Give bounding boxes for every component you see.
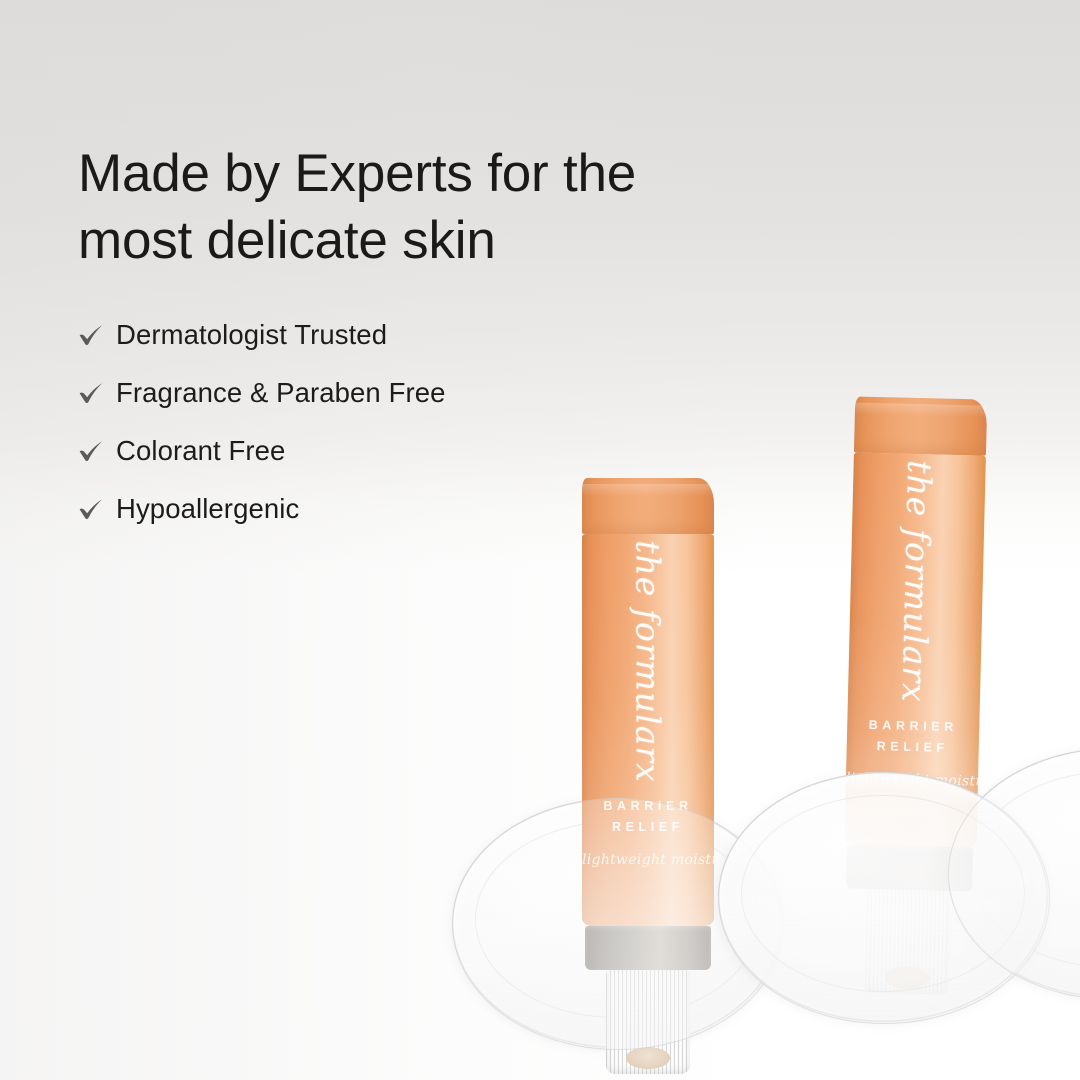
petri-dish [718,772,1048,1022]
check-icon [78,498,116,520]
headline-line-2: most delicate skin [78,207,738,275]
product-tube: the formularx BARRIER RELIEF lightweight… [582,478,714,1074]
product-name-line-2: RELIEF [612,820,684,834]
feature-label: Hypoallergenic [116,493,299,525]
product-descriptor: lightweight moisturizer [582,852,714,868]
product-marketing-image: Made by Experts for the most delicate sk… [0,0,1080,1080]
nozzle-tip [626,1047,670,1069]
feature-label: Dermatologist Trusted [116,319,387,351]
page-title: Made by Experts for the most delicate sk… [78,140,738,276]
feature-label: Colorant Free [116,435,285,467]
check-icon [78,440,116,462]
check-icon [78,382,116,404]
tube-crimp-seal [582,478,714,534]
tube-crimp-seal [854,396,987,455]
product-name-line-1: BARRIER [869,718,958,734]
product-name: BARRIER RELIEF [582,796,714,837]
tube-nozzle-cap [606,970,690,1074]
brand-script-logo: the formularx [629,540,668,783]
product-name: BARRIER RELIEF [847,714,980,758]
list-item: Dermatologist Trusted [78,306,638,364]
brand-script-logo: the formularx [894,460,939,703]
product-photo: the formularx BARRIER RELIEF lightweight… [430,380,1080,1080]
product-name-line-2: RELIEF [877,739,949,755]
product-name-line-1: BARRIER [603,799,692,813]
tube-body: the formularx BARRIER RELIEF lightweight… [582,534,714,926]
check-icon [78,324,116,346]
feature-label: Fragrance & Paraben Free [116,377,446,409]
headline-line-1: Made by Experts for the [78,144,636,203]
tube-shoulder-band [585,926,711,970]
